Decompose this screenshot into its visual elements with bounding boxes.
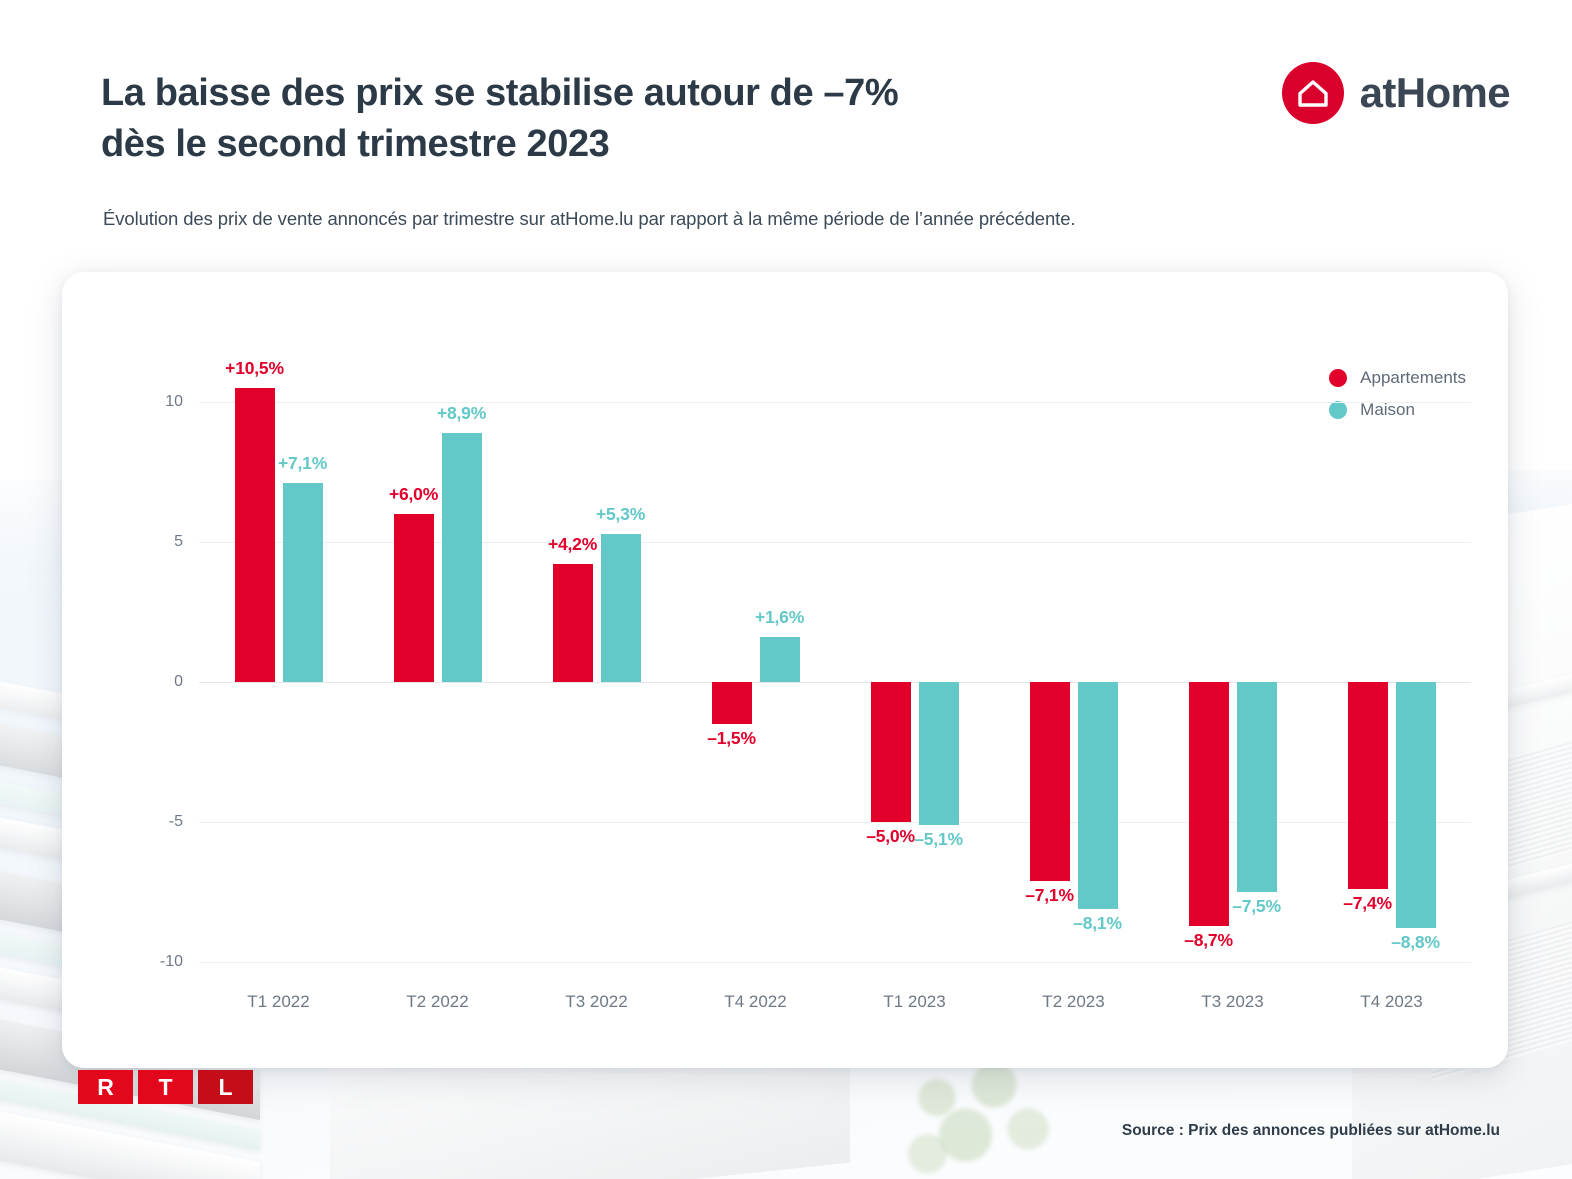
bar-group: –8,7%–7,5%: [1153, 402, 1312, 962]
bar-value-label: +8,9%: [437, 403, 486, 424]
house-icon: [1282, 62, 1344, 124]
bar-slot: –8,7%: [1189, 402, 1229, 962]
x-axis-label: T4 2022: [724, 992, 786, 1012]
bar-value-label: –8,1%: [1073, 913, 1122, 934]
legend-label-appartements: Appartements: [1360, 368, 1466, 388]
bar-slot: +5,3%: [601, 402, 641, 962]
y-axis-tick: 0: [174, 673, 183, 691]
bar-slot: +1,6%: [760, 402, 800, 962]
page-title-line-1: La baisse des prix se stabilise autour d…: [101, 68, 1161, 119]
bar[interactable]: [553, 564, 593, 682]
bar-group: –5,0%–5,1%: [835, 402, 994, 962]
bar-slot: –5,0%: [871, 402, 911, 962]
y-axis-tick: 5: [174, 533, 183, 551]
x-axis-label: T3 2022: [565, 992, 627, 1012]
bar-slot: –7,5%: [1237, 402, 1277, 962]
bar[interactable]: [1237, 682, 1277, 892]
bar-value-label: –1,5%: [707, 728, 756, 749]
bar[interactable]: [712, 682, 752, 724]
bar-value-label: +5,3%: [596, 504, 645, 525]
bar-slot: –7,1%: [1030, 402, 1070, 962]
chart-bars: +10,5%+7,1%+6,0%+8,9%+4,2%+5,3%–1,5%+1,6…: [199, 402, 1471, 962]
y-axis-tick: -5: [169, 813, 183, 831]
bar-group: –7,4%–8,8%: [1312, 402, 1471, 962]
bar-value-label: –5,1%: [914, 829, 963, 850]
bar-group: +10,5%+7,1%: [199, 402, 358, 962]
bar-slot: +10,5%: [235, 402, 275, 962]
x-axis-label: T2 2023: [1042, 992, 1104, 1012]
bar-slot: +8,9%: [442, 402, 482, 962]
y-axis: 1050-5-10: [141, 402, 199, 962]
bar-slot: +4,2%: [553, 402, 593, 962]
bar-group: +6,0%+8,9%: [358, 402, 517, 962]
bar-group: +4,2%+5,3%: [517, 402, 676, 962]
bar-value-label: –7,4%: [1343, 893, 1392, 914]
bar-value-label: +10,5%: [225, 358, 284, 379]
page-title-line-2: dès le second trimestre 2023: [101, 119, 1161, 170]
x-axis-label: T2 2022: [406, 992, 468, 1012]
rtl-letter-t: T: [138, 1070, 193, 1104]
bar-group: –1,5%+1,6%: [676, 402, 835, 962]
brand-name: atHome: [1360, 69, 1510, 117]
page-title: La baisse des prix se stabilise autour d…: [101, 68, 1161, 169]
bar[interactable]: [601, 534, 641, 682]
bar-value-label: +6,0%: [389, 484, 438, 505]
chart-plot-area: 1050-5-10 +10,5%+7,1%+6,0%+8,9%+4,2%+5,3…: [141, 402, 1471, 962]
x-axis-label: T4 2023: [1360, 992, 1422, 1012]
bar[interactable]: [760, 637, 800, 682]
legend-swatch-appartements: [1329, 369, 1347, 387]
y-axis-tick: -10: [160, 953, 183, 971]
legend-item-appartements[interactable]: Appartements: [1329, 368, 1466, 388]
bar[interactable]: [394, 514, 434, 682]
bar-slot: –8,1%: [1078, 402, 1118, 962]
source-note: Source : Prix des annonces publiées sur …: [1122, 1122, 1500, 1140]
x-axis-label: T3 2023: [1201, 992, 1263, 1012]
bar[interactable]: [235, 388, 275, 682]
header: La baisse des prix se stabilise autour d…: [0, 0, 1572, 250]
bar-value-label: –7,5%: [1232, 896, 1281, 917]
bar-slot: –7,4%: [1348, 402, 1388, 962]
bar-slot: +7,1%: [283, 402, 323, 962]
bar[interactable]: [1189, 682, 1229, 926]
bar-value-label: –8,7%: [1184, 930, 1233, 951]
bar[interactable]: [871, 682, 911, 822]
bar-slot: –5,1%: [919, 402, 959, 962]
bar[interactable]: [1030, 682, 1070, 881]
rtl-letter-r: R: [78, 1070, 133, 1104]
bar-slot: –1,5%: [712, 402, 752, 962]
bar[interactable]: [1396, 682, 1436, 928]
bar[interactable]: [1078, 682, 1118, 909]
bar[interactable]: [283, 483, 323, 682]
chart-card: Appartements Maison 1050-5-10 +10,5%+7,1…: [62, 272, 1508, 1068]
bar[interactable]: [442, 433, 482, 682]
page-subtitle: Évolution des prix de vente annoncés par…: [103, 208, 1075, 230]
rtl-letter-l: L: [198, 1070, 253, 1104]
bar[interactable]: [919, 682, 959, 825]
bar-slot: –8,8%: [1396, 402, 1436, 962]
bar[interactable]: [1348, 682, 1388, 889]
bar-value-label: +4,2%: [548, 534, 597, 555]
bar-slot: +6,0%: [394, 402, 434, 962]
x-axis: T1 2022T2 2022T3 2022T4 2022T1 2023T2 20…: [199, 962, 1471, 1012]
bar-group: –7,1%–8,1%: [994, 402, 1153, 962]
rtl-logo: R T L: [78, 1070, 253, 1104]
brand-logo: atHome: [1282, 62, 1510, 124]
bar-value-label: +1,6%: [755, 607, 804, 628]
x-axis-label: T1 2022: [247, 992, 309, 1012]
y-axis-tick: 10: [165, 393, 183, 411]
x-axis-label: T1 2023: [883, 992, 945, 1012]
bar-value-label: –7,1%: [1025, 885, 1074, 906]
bar-value-label: –5,0%: [866, 826, 915, 847]
bar-value-label: +7,1%: [278, 453, 327, 474]
bar-value-label: –8,8%: [1391, 932, 1440, 953]
